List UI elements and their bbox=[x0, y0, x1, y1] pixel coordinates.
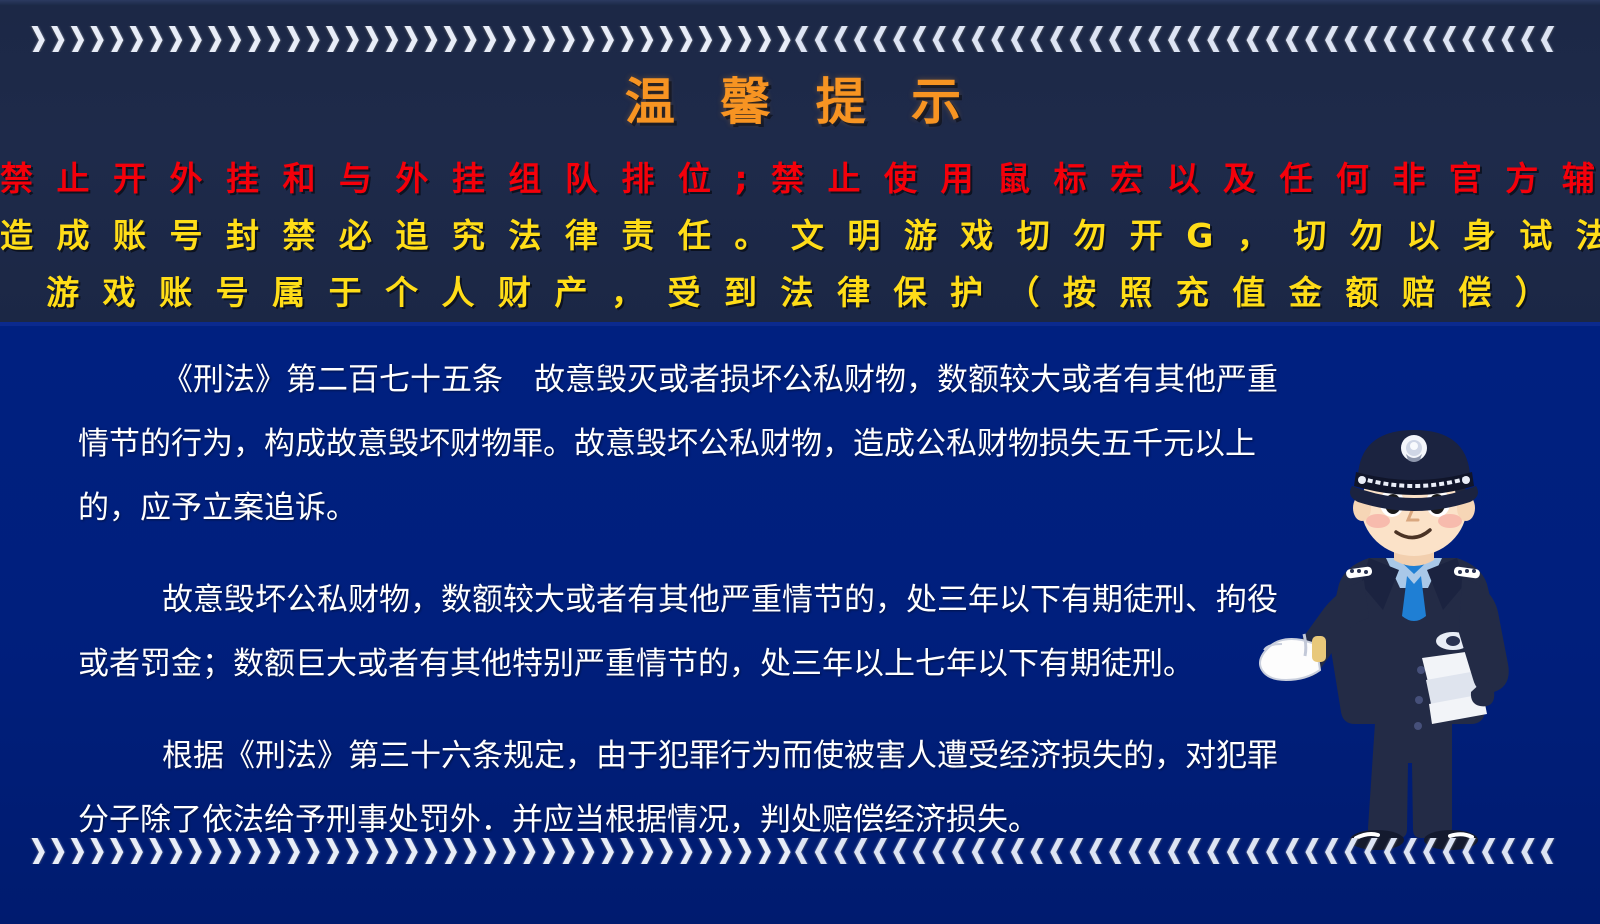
legal-text-block: 《刑法》第二百七十五条 故意毁灭或者损坏公私财物，数额较大或者有其他严重情节的行… bbox=[78, 348, 1293, 852]
warning-poster: ❯❯❯❯❯❯❯❯❯❯❯❯❯❯❯❯❯❯❯❯❯❯❯❯❯❯❯❯❯❯❯❯❯❯❯❯❯❯❯ … bbox=[0, 0, 1600, 924]
page-title: 温 馨 提 示 bbox=[0, 62, 1600, 134]
warning-line-prohibition: 禁 止 开 外 挂 和 与 外 挂 组 队 排 位 ; 禁 止 使 用 鼠 标 … bbox=[0, 152, 1600, 200]
legal-paragraph-36: 根据《刑法》第三十六条规定，由于犯罪行为而使被害人遭受经济损失的，对犯罪分子除了… bbox=[78, 724, 1293, 852]
warning-line-property: 游 戏 账 号 属 于 个 人 财 产 ， 受 到 法 律 保 护 （ 按 照 … bbox=[0, 266, 1600, 314]
police-officer-mascot bbox=[1226, 408, 1600, 860]
legal-paragraph-275: 《刑法》第二百七十五条 故意毁灭或者损坏公私财物，数额较大或者有其他严重情节的行… bbox=[78, 348, 1293, 540]
warning-line-liability: 造 成 账 号 封 禁 必 追 究 法 律 责 任 。 文 明 游 戏 切 勿 … bbox=[0, 209, 1600, 257]
legal-paragraph-penalty: 故意毁坏公私财物，数额较大或者有其他严重情节的，处三年以下有期徒刑、拘役或者罚金… bbox=[78, 568, 1293, 696]
